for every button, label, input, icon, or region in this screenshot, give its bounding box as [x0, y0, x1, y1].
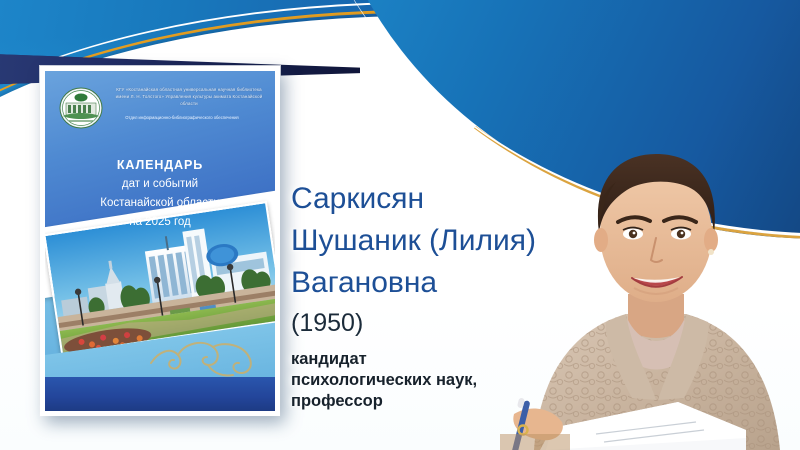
person-patronymic: Вагановна: [291, 262, 591, 304]
book-bottom-band: [45, 377, 275, 411]
book-title-line1: КАЛЕНДАРЬ: [45, 156, 275, 175]
book-organization-text: КГУ «Костанайская областная универсальна…: [109, 87, 269, 107]
person-birth-year: (1950): [291, 306, 591, 340]
book-department-text: Отдел информационно-библиографического о…: [91, 115, 273, 121]
person-title-line2: психологических наук,: [291, 370, 591, 391]
person-surname: Саркисян: [291, 178, 591, 220]
person-title-line3: профессор: [291, 391, 591, 412]
book-title-line2: дат и событий: [45, 175, 275, 194]
person-info-block: Саркисян Шушаник (Лилия) Вагановна (1950…: [291, 178, 591, 412]
book-cover-inner: КГУ «Костанайская областная универсальна…: [45, 71, 275, 411]
book-title-line4: на 2025 год: [45, 213, 275, 232]
person-title-line1: кандидат: [291, 349, 591, 370]
kazakh-ornament-icon: [145, 331, 265, 377]
book-title-block: КАЛЕНДАРЬ дат и событий Костанайской обл…: [45, 156, 275, 232]
calendar-book-cover[interactable]: КГУ «Костанайская областная универсальна…: [40, 66, 280, 416]
person-given-name: Шушаник (Лилия): [291, 220, 591, 262]
slide-canvas: КГУ «Костанайская областная универсальна…: [0, 0, 800, 450]
book-title-line3: Костанайской области: [45, 194, 275, 213]
library-emblem-icon: [58, 85, 104, 131]
